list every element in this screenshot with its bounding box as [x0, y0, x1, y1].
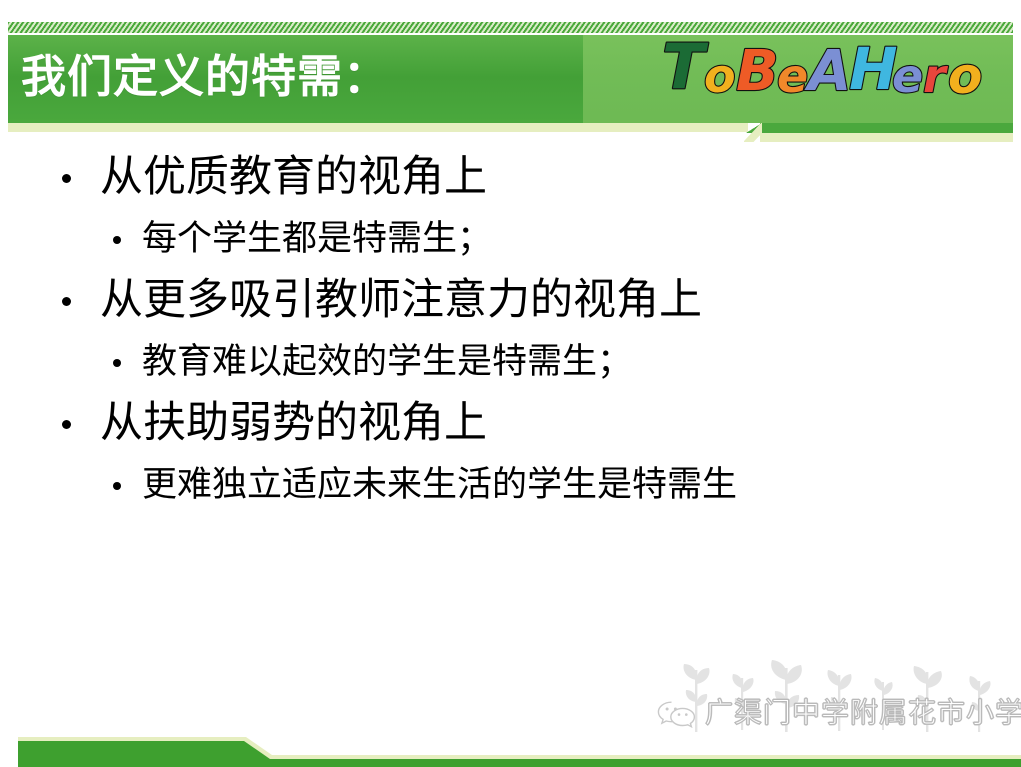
bullet-group-1: 从优质教育的视角上 每个学生都是特需生；	[0, 146, 1021, 269]
sub-bullet-dot-icon	[113, 236, 121, 244]
slide-body: 从优质教育的视角上 每个学生都是特需生； 从更多吸引教师注意力的视角上 教育难以…	[0, 146, 1021, 515]
bullet-level2: 更难独立适应未来生活的学生是特需生	[0, 455, 1021, 515]
header-pale-strip-left	[8, 123, 748, 132]
bullet-level1-text: 从优质教育的视角上	[100, 152, 487, 202]
bottom-bar	[0, 707, 1021, 767]
bullet-group-3: 从扶助弱势的视角上 更难独立适应未来生活的学生是特需生	[0, 392, 1021, 515]
bullet-level1-text: 从更多吸引教师注意力的视角上	[100, 275, 702, 325]
to-be-a-hero-logo: T o B e A H e r o	[660, 32, 1010, 108]
bullet-level2-text: 更难独立适应未来生活的学生是特需生	[142, 465, 737, 505]
logo-letter-B: B	[736, 39, 779, 104]
bullet-level2-text: 教育难以起效的学生是特需生；	[142, 342, 632, 382]
bullet-dot-icon	[62, 297, 71, 306]
bullet-level2-text: 每个学生都是特需生；	[142, 219, 492, 259]
logo-letter-A: A	[804, 39, 851, 104]
bullet-level1-text: 从扶助弱势的视角上	[100, 398, 487, 448]
sub-bullet-dot-icon	[113, 482, 121, 490]
logo-letter-o2: o	[948, 47, 982, 105]
bullet-level1: 从扶助弱势的视角上	[0, 392, 1021, 455]
sub-bullet-dot-icon	[113, 359, 121, 367]
bullet-level1: 从更多吸引教师注意力的视角上	[0, 269, 1021, 332]
slide-title: 我们定义的特需：	[21, 50, 389, 104]
bullet-level1: 从优质教育的视角上	[0, 146, 1021, 209]
header-pale-strip-right	[760, 133, 1013, 142]
bullet-group-2: 从更多吸引教师注意力的视角上 教育难以起效的学生是特需生；	[0, 269, 1021, 392]
slide: 我们定义的特需： T o B e A H e r o 从优质教育的视角上	[0, 0, 1021, 767]
bullet-level2: 教育难以起效的学生是特需生；	[0, 332, 1021, 392]
logo-letter-e1: e	[777, 49, 808, 103]
logo-letter-T: T	[662, 32, 709, 103]
logo-letter-o1: o	[704, 49, 736, 103]
logo-letter-H: H	[849, 35, 898, 103]
logo-letter-r: r	[923, 49, 949, 103]
bullet-dot-icon	[62, 174, 71, 183]
logo-letter-e2: e	[892, 49, 923, 103]
bullet-dot-icon	[62, 420, 71, 429]
header-step-block	[760, 123, 1013, 133]
bullet-level2: 每个学生都是特需生；	[0, 209, 1021, 269]
